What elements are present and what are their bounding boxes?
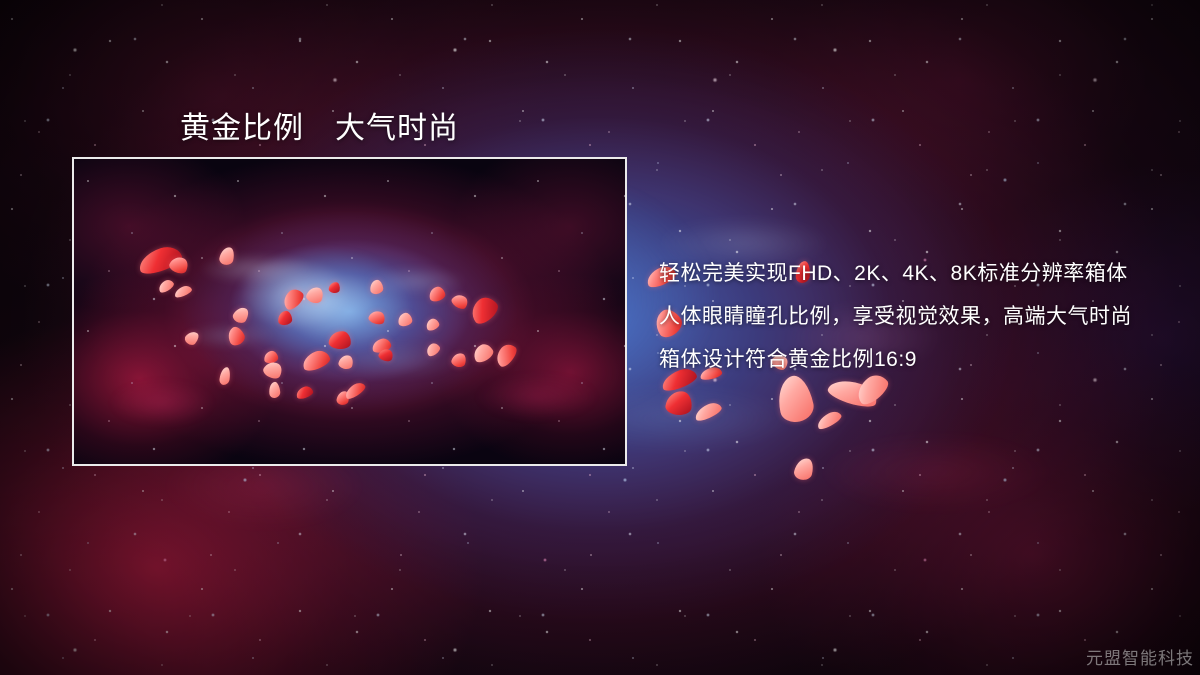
page-title: 黄金比例 大气时尚	[180, 103, 459, 147]
panel-starfield	[74, 159, 625, 464]
body-line: 箱体设计符合黄金比例16:9	[659, 338, 1159, 381]
watermark-text: 元盟智能科技	[1086, 644, 1194, 669]
slide-canvas: 黄金比例 大气时尚 轻松完美实现FHD、2K、4K、8K标准分辨率箱体 人体眼睛…	[0, 0, 1200, 675]
framed-image-panel[interactable]	[72, 157, 627, 466]
petal-shape	[793, 456, 816, 482]
petal-shape	[664, 389, 693, 416]
panel-image-content	[74, 159, 625, 464]
petal-shape	[815, 409, 844, 432]
petal-shape	[693, 400, 724, 423]
body-line: 轻松完美实现FHD、2K、4K、8K标准分辨率箱体	[659, 252, 1159, 295]
body-line: 人体眼睛瞳孔比例，享受视觉效果，高端大气时尚	[659, 295, 1159, 338]
body-copy-block: 轻松完美实现FHD、2K、4K、8K标准分辨率箱体 人体眼睛瞳孔比例，享受视觉效…	[659, 252, 1159, 381]
